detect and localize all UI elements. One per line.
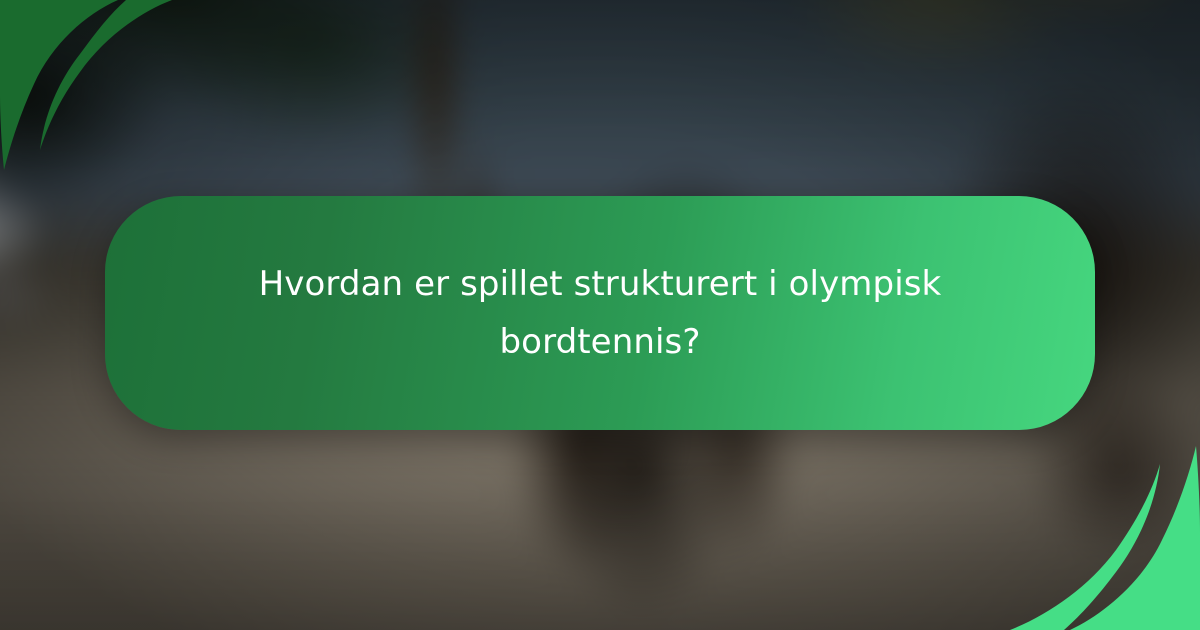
question-card: Hvordan er spillet strukturert i olympis… [105,196,1095,430]
screenshot-canvas: Hvordan er spillet strukturert i olympis… [0,0,1200,630]
question-title: Hvordan er spillet strukturert i olympis… [250,255,950,371]
